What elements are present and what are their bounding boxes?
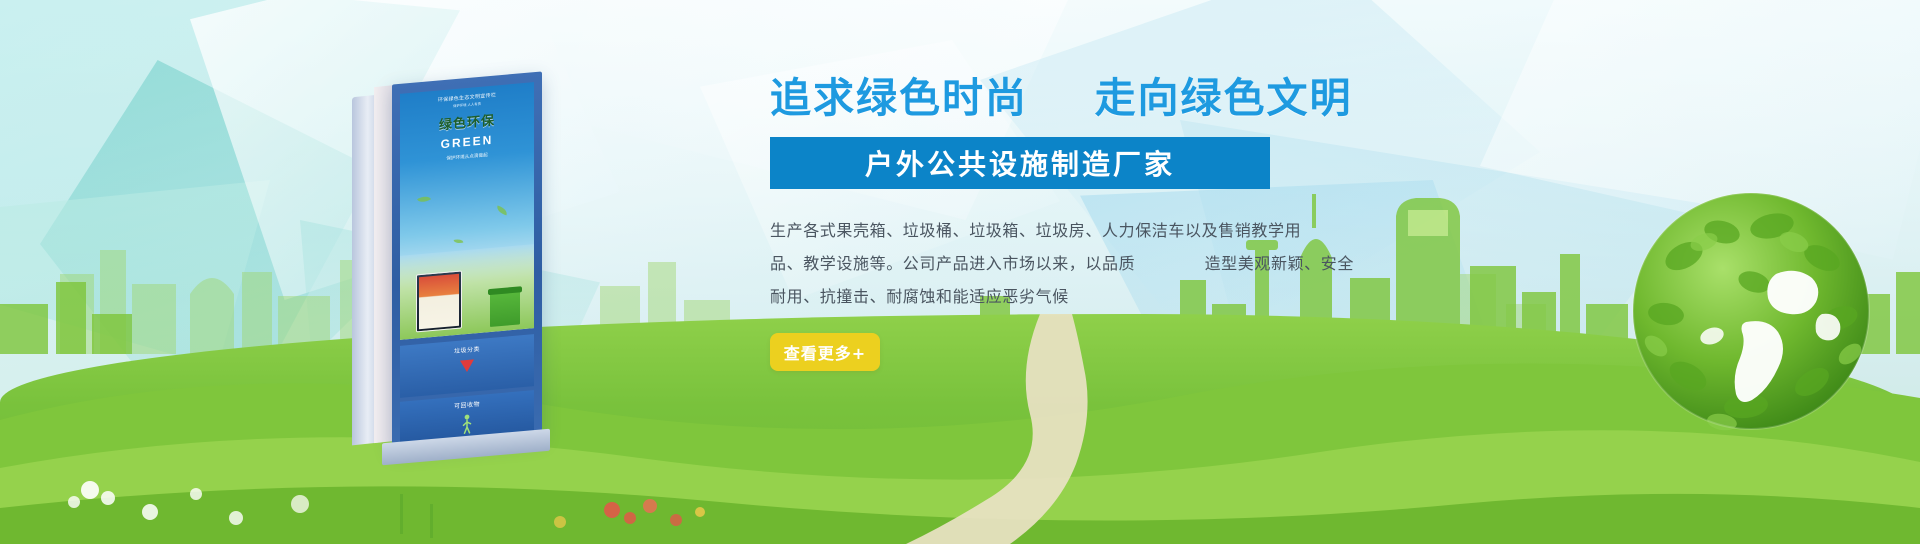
description-line-3: 耐用、抗撞击、耐腐蚀和能适应恶劣气候 [770, 281, 1370, 314]
leaf-icon [454, 238, 464, 245]
headline-part2: 走向绿色文明 [1095, 74, 1353, 122]
poster-ad-content [419, 274, 459, 329]
hero-banner: 环保绿色生态文明宣传栏 保护环境 人人有责 绿色环保 GREEN 保护环境从点滴… [0, 0, 1920, 544]
kiosk-panel-recycle-label: 垃圾分类 [454, 344, 480, 355]
banner-headline: 追求绿色时尚 走向绿色文明 [770, 78, 1410, 119]
kiosk-poster: 环保绿色生态文明宣传栏 保护环境 人人有责 绿色环保 GREEN 保护环境从点滴… [400, 82, 534, 340]
description-line-1: 生产各式果壳箱、垃圾桶、垃圾箱、垃圾房、人力保洁车以及售销教学用 [770, 215, 1370, 248]
kiosk-lightbox: 环保绿色生态文明宣传栏 保护环境 人人有责 绿色环保 GREEN 保护环境从点滴… [352, 72, 552, 450]
poster-ad-screen [416, 270, 462, 332]
headline-part1: 追求绿色时尚 [770, 74, 1028, 122]
description-line-2a: 品、教学设施等。公司产品进入市场以来，以品质 [770, 254, 1135, 273]
down-arrow-icon [460, 359, 474, 372]
kiosk-panel-recycle: 垃圾分类 [400, 334, 534, 398]
view-more-button[interactable]: 查看更多+ [770, 333, 880, 371]
poster-header-group: 环保绿色生态文明宣传栏 保护环境 人人有责 绿色环保 GREEN 保护环境从点滴… [400, 88, 534, 166]
recycle-bin-illustration [490, 290, 520, 327]
banner-description: 生产各式果壳箱、垃圾桶、垃圾箱、垃圾房、人力保洁车以及售销教学用 品、教学设施等… [770, 215, 1370, 313]
leaf-icon [495, 205, 509, 215]
person-icon [463, 414, 472, 435]
description-line-2: 品、教学设施等。公司产品进入市场以来，以品质 造型美观新颖、安全 [770, 248, 1370, 281]
leaf-icon [417, 193, 431, 205]
kiosk-front-frame: 环保绿色生态文明宣传栏 保护环境 人人有责 绿色环保 GREEN 保护环境从点滴… [392, 71, 542, 448]
subtitle-text: 户外公共设施制造厂家 [865, 143, 1175, 183]
kiosk-panel-bin-label: 可回收物 [454, 399, 480, 410]
banner-content: 追求绿色时尚 走向绿色文明 户外公共设施制造厂家 生产各式果壳箱、垃圾桶、垃圾箱… [770, 78, 1410, 371]
subtitle-bar: 户外公共设施制造厂家 [770, 137, 1270, 189]
description-line-2b: 造型美观新颖、安全 [1205, 254, 1354, 273]
green-globe-illustration [1626, 186, 1876, 436]
